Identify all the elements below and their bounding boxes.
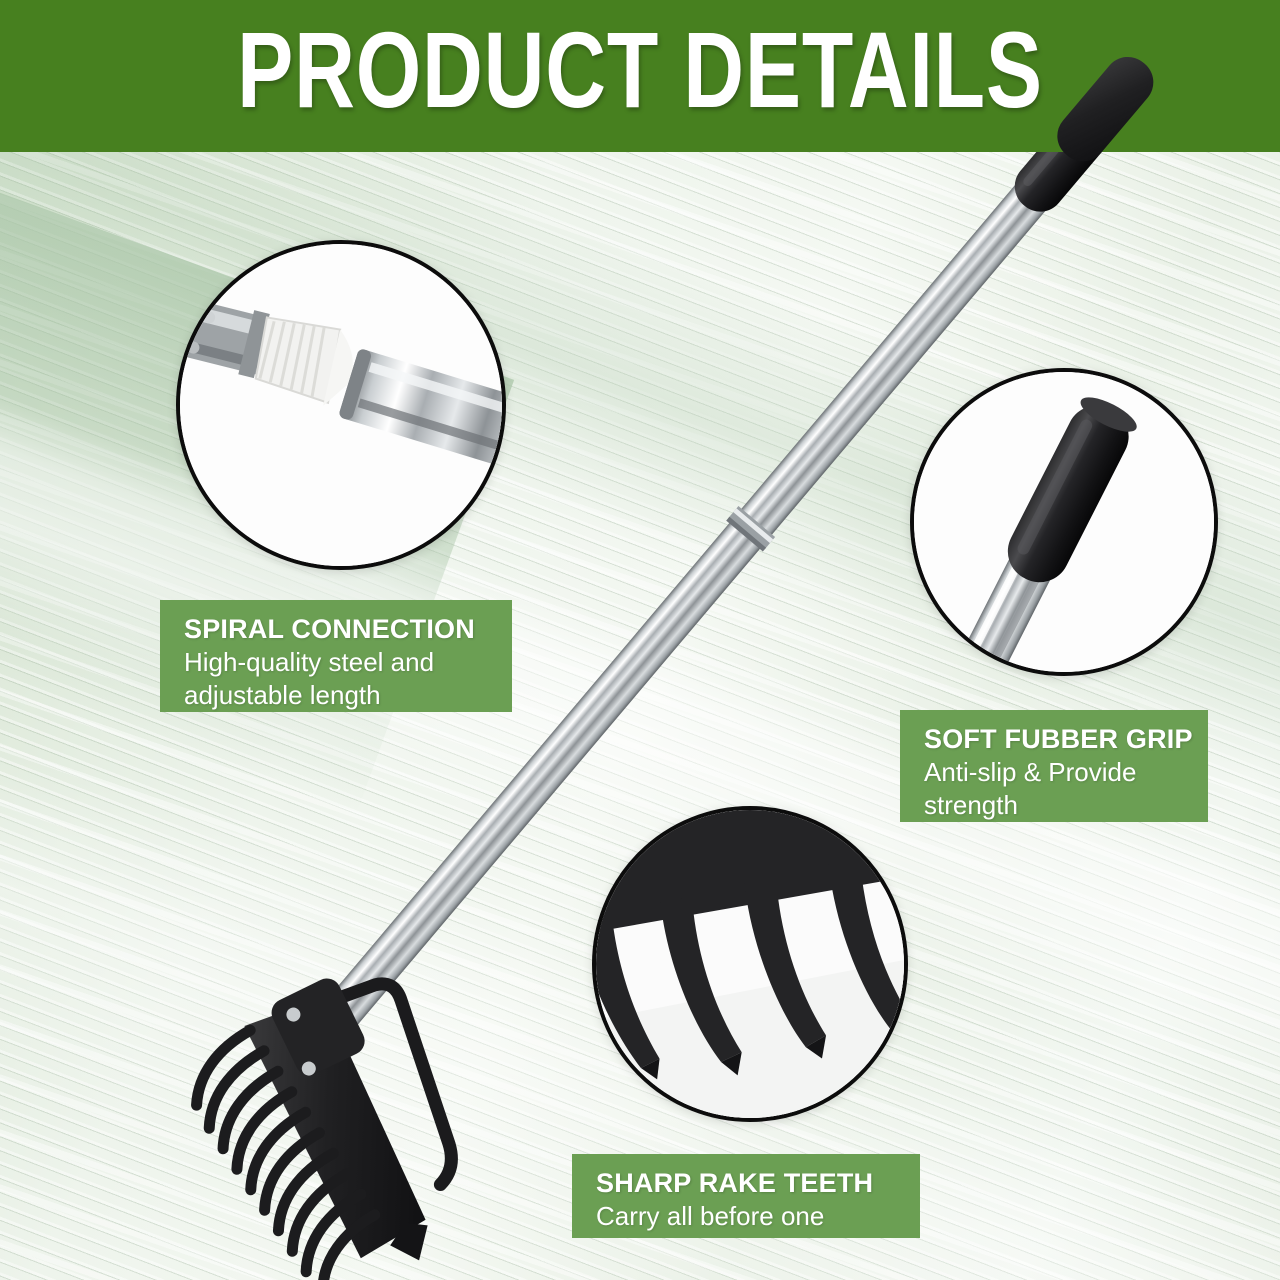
label-description-line1: Carry all before one [596, 1200, 902, 1233]
label-description-line1: Anti-slip & Provide [924, 756, 1190, 789]
callout-circle-soft-rubber-grip [910, 368, 1218, 676]
label-spiral-connection: SPIRAL CONNECTION High-quality steel and… [160, 600, 512, 712]
label-sharp-rake-teeth: SHARP RAKE TEETH Carry all before one [572, 1154, 920, 1238]
label-description-line1: High-quality steel and [184, 646, 494, 679]
label-description-line2: adjustable length [184, 679, 494, 712]
product-details-infographic: PRODUCT DETAILS [0, 0, 1280, 1280]
callout-circle-spiral-connection [176, 240, 506, 570]
sharp-rake-teeth-detail-image [596, 810, 904, 1118]
callout-circle-sharp-rake-teeth [592, 806, 908, 1122]
label-description-line2: strength [924, 789, 1190, 822]
soft-rubber-grip-detail-image [914, 372, 1214, 672]
spiral-connection-detail-image [180, 244, 502, 566]
label-headline: SPIRAL CONNECTION [184, 612, 494, 646]
label-soft-rubber-grip: SOFT FUBBER GRIP Anti-slip & Provide str… [900, 710, 1208, 822]
header-banner: PRODUCT DETAILS [0, 0, 1280, 152]
label-headline: SOFT FUBBER GRIP [924, 722, 1190, 756]
page-title: PRODUCT DETAILS [141, 14, 1139, 126]
label-headline: SHARP RAKE TEETH [596, 1166, 902, 1200]
